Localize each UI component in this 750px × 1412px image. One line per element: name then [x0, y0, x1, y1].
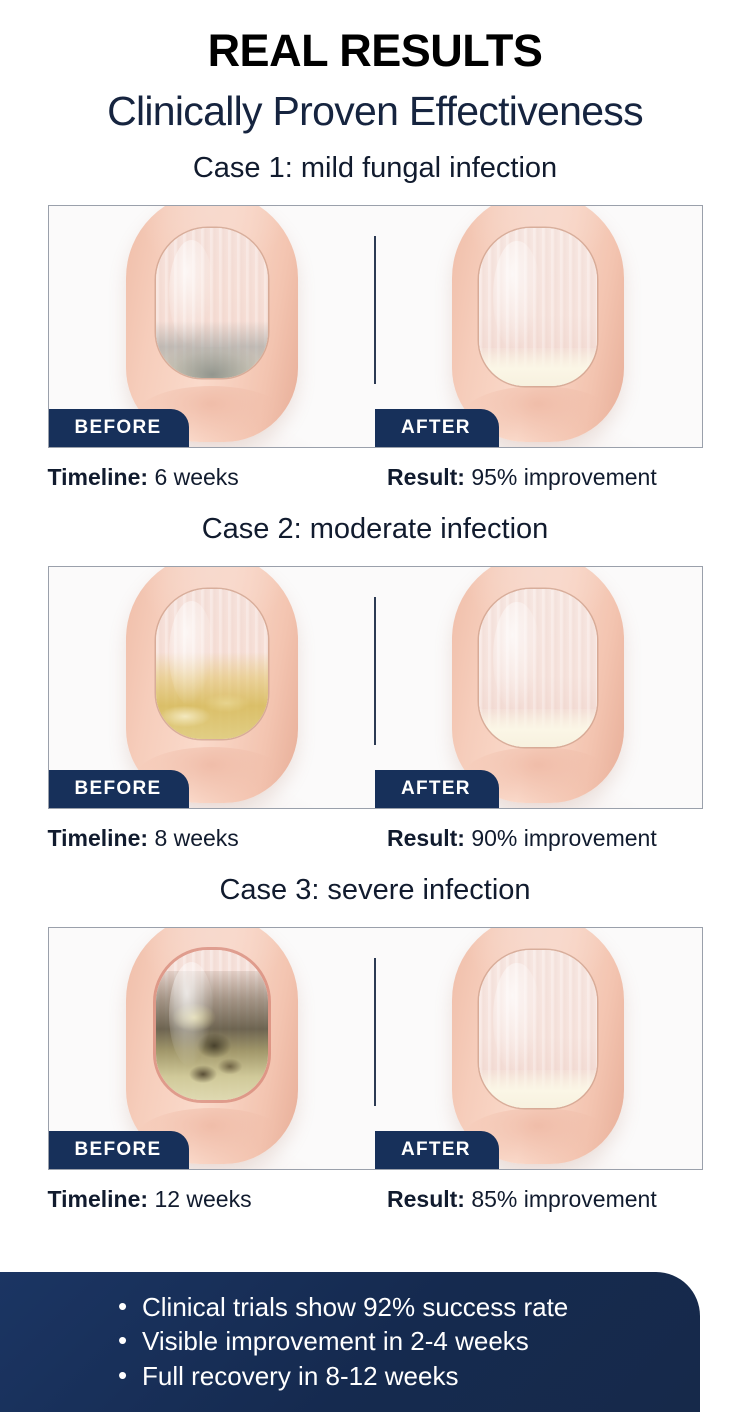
list-item: Clinical trials show 92% success rate [118, 1290, 700, 1324]
comparison-panel-2: BEFORE AFTER [48, 566, 703, 809]
infection-overlay-mild [156, 321, 268, 378]
nail-plate [156, 950, 268, 1100]
caption-row-1: Timeline: 6 weeks Result: 95% improvemen… [48, 464, 703, 491]
case-title-1: Case 1: mild fungal infection [0, 132, 750, 183]
list-item: Full recovery in 8-12 weeks [118, 1359, 700, 1393]
case-block-2: Case 2: moderate infection BEFORE [0, 491, 750, 852]
timeline-value-1: 6 weeks [154, 464, 238, 490]
after-image-1: AFTER [375, 206, 702, 447]
nail-plate [479, 950, 597, 1108]
after-image-2: AFTER [375, 567, 702, 808]
result-value-1: 95% improvement [471, 464, 656, 490]
before-image-2: BEFORE [49, 567, 376, 808]
result-value-2: 90% improvement [471, 825, 656, 851]
page-headline: REAL RESULTS [0, 0, 750, 73]
page-subheadline: Clinically Proven Effectiveness [0, 73, 750, 132]
result-caption-2: Result: 90% improvement [375, 825, 703, 852]
panel-divider-3 [374, 958, 376, 1106]
caption-row-2: Timeline: 8 weeks Result: 90% improvemen… [48, 825, 703, 852]
comparison-panel-3: BEFORE AFTER [48, 927, 703, 1170]
nail-plate [479, 589, 597, 747]
timeline-caption-2: Timeline: 8 weeks [48, 825, 376, 852]
timeline-caption-3: Timeline: 12 weeks [48, 1186, 376, 1213]
case-title-2: Case 2: moderate infection [0, 491, 750, 544]
before-badge-3: BEFORE [49, 1131, 190, 1169]
result-label-3: Result: [387, 1186, 465, 1212]
case-block-3: Case 3: severe infection BEFORE [0, 852, 750, 1213]
timeline-label-1: Timeline: [48, 464, 149, 490]
results-page: REAL RESULTS Clinically Proven Effective… [0, 0, 750, 1412]
panel-divider-1 [374, 236, 376, 384]
nail-plate [156, 589, 268, 739]
timeline-value-3: 12 weeks [154, 1186, 251, 1212]
after-badge-2: AFTER [375, 770, 499, 808]
result-label-2: Result: [387, 825, 465, 851]
before-badge-1: BEFORE [49, 409, 190, 447]
nail-plate [156, 228, 268, 378]
result-value-3: 85% improvement [471, 1186, 656, 1212]
timeline-caption-1: Timeline: 6 weeks [48, 464, 376, 491]
result-label-1: Result: [387, 464, 465, 490]
case-title-3: Case 3: severe infection [0, 852, 750, 905]
before-badge-2: BEFORE [49, 770, 190, 808]
timeline-value-2: 8 weeks [154, 825, 238, 851]
before-image-3: BEFORE [49, 928, 376, 1169]
panel-divider-2 [374, 597, 376, 745]
caption-row-3: Timeline: 12 weeks Result: 85% improveme… [48, 1186, 703, 1213]
result-caption-1: Result: 95% improvement [375, 464, 703, 491]
nail-plate [479, 228, 597, 386]
after-badge-1: AFTER [375, 409, 499, 447]
after-image-3: AFTER [375, 928, 702, 1169]
timeline-label-2: Timeline: [48, 825, 149, 851]
comparison-panel-1: BEFORE AFTER [48, 205, 703, 448]
key-facts-panel: Clinical trials show 92% success rate Vi… [0, 1272, 700, 1412]
timeline-label-3: Timeline: [48, 1186, 149, 1212]
list-item: Visible improvement in 2-4 weeks [118, 1324, 700, 1358]
after-badge-3: AFTER [375, 1131, 499, 1169]
case-block-1: Case 1: mild fungal infection BEFORE [0, 132, 750, 491]
facts-list: Clinical trials show 92% success rate Vi… [0, 1290, 700, 1393]
before-image-1: BEFORE [49, 206, 376, 447]
result-caption-3: Result: 85% improvement [375, 1186, 703, 1213]
